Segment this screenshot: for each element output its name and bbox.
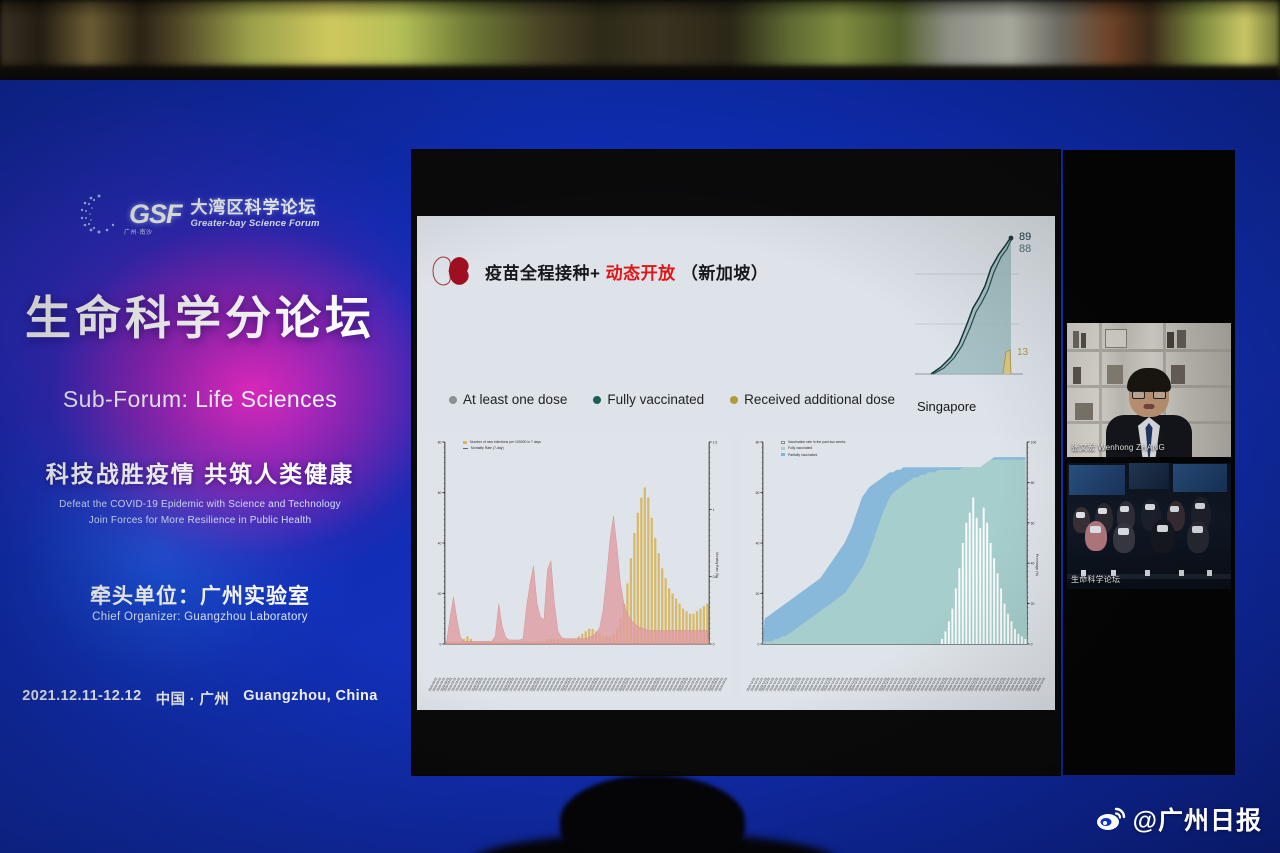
svg-text:80: 80	[1031, 481, 1035, 485]
gsf-dot-ring-icon	[78, 193, 120, 235]
chart-vaccination-coverage: Vaccination rate in the past two weeks F…	[741, 434, 1049, 696]
gsf-logo: GSF 大湾区科学论坛 Greater-bay Science Forum 广州…	[78, 193, 320, 235]
chart-left-legend: Number of new infections per 100000 in 7…	[463, 440, 541, 451]
presentation-screen: 疫苗全程接种+ 动态开放 （新加坡） At least one dose Ful…	[412, 150, 1060, 775]
banner-footer: 2021.12.11-12.12 中国 · 广州 Guangzhou, Chin…	[14, 688, 386, 709]
svg-text:80: 80	[438, 440, 442, 444]
weibo-handle: @广州日报	[1133, 801, 1262, 837]
chart-right-xticks: 2020-12-012020-12-012020-12-012020-12-01…	[741, 660, 1049, 696]
forum-location-cn: 中国 · 广州	[156, 688, 230, 709]
svg-text:0: 0	[1031, 642, 1033, 646]
svg-text:0: 0	[439, 642, 441, 646]
svg-text:20: 20	[1031, 602, 1035, 606]
svg-text:100: 100	[1031, 440, 1037, 444]
svg-text:0: 0	[713, 642, 715, 646]
chart-right-plot: 020406080020406080100	[741, 434, 1049, 696]
forum-location-en: Guangzhou, China	[243, 688, 377, 709]
svg-text:80: 80	[756, 440, 760, 444]
slide-legend: At least one dose Fully vaccinated Recei…	[449, 392, 895, 407]
svg-text:88: 88	[1019, 243, 1031, 255]
chart-right-legend-item-0: Vaccination rate in the past two weeks	[781, 440, 845, 444]
legend-dot-gold	[730, 396, 738, 404]
video-tiles-column: 张文宏 Wenhong ZHANG	[1063, 150, 1235, 775]
svg-text:20: 20	[756, 592, 760, 596]
gsf-name-en: Greater-bay Science Forum	[191, 218, 320, 229]
chart-right-legend-item-2: Partially vaccinated	[781, 453, 845, 457]
forum-date: 2021.12.11-12.12	[22, 688, 141, 709]
svg-text:60: 60	[756, 491, 760, 495]
legend-item-at-least-one-dose: At least one dose	[449, 392, 567, 407]
legend-dot-teal	[593, 396, 601, 404]
chart-left-legend-label-1: Mortality Rate (7-day)	[471, 446, 504, 450]
forum-title-en: Sub-Forum: Life Sciences	[14, 386, 386, 413]
chart-right-legend-label-1: Fully vaccinated	[788, 446, 812, 450]
singapore-mini-chart: 89 88 13 Singapore	[911, 224, 1043, 414]
svg-text:60: 60	[438, 491, 442, 495]
organizer-en: Chief Organizer: Guangzhou Laboratory	[14, 611, 386, 623]
svg-text:20: 20	[438, 592, 442, 596]
legend-item-additional-dose: Received additional dose	[730, 392, 895, 407]
legend-label-0: At least one dose	[463, 392, 567, 407]
screen-bezel-top	[412, 150, 1060, 216]
svg-text:40: 40	[438, 541, 442, 545]
legend-swatch-partially	[781, 453, 785, 456]
speaker-name-label: 张文宏 Wenhong ZHANG	[1071, 442, 1165, 453]
legend-label-1: Fully vaccinated	[607, 392, 704, 407]
slide-title: 疫苗全程接种+ 动态开放 （新加坡）	[485, 259, 768, 284]
svg-text:40: 40	[1031, 562, 1035, 566]
audience-background	[1067, 463, 1231, 589]
chart-infections-mortality: Number of new infections per 100000 in 7…	[423, 434, 731, 696]
singapore-country-label: Singapore	[917, 399, 976, 414]
forum-slogan-cn: 科技战胜疫情 共筑人类健康	[14, 455, 386, 489]
forum-slogan-en: Defeat the COVID-19 Epidemic with Scienc…	[14, 497, 386, 528]
audience-room-label: 生命科学论坛	[1071, 574, 1120, 585]
legend-label-2: Received additional dose	[744, 392, 895, 407]
forum-banner: GSF 大湾区科学论坛 Greater-bay Science Forum 广州…	[0, 150, 400, 730]
svg-text:89: 89	[1019, 231, 1031, 243]
chart-right-ylabel-right: Percentage (%)	[1035, 554, 1039, 576]
gsf-wordmark: GSF	[129, 199, 182, 230]
slide-charts-row: Number of new infections per 100000 in 7…	[423, 434, 1049, 696]
blood-drop-icon	[429, 252, 475, 290]
gsf-sub-location: 广州·南沙	[124, 227, 153, 236]
chart-left-legend-label-0: Number of new infections per 100000 in 7…	[470, 440, 541, 444]
legend-swatch-infections	[463, 441, 467, 444]
legend-dot-gray	[449, 396, 457, 404]
screenshot-stage: GSF 大湾区科学论坛 Greater-bay Science Forum 广州…	[0, 0, 1280, 853]
slide-surface: 疫苗全程接种+ 动态开放 （新加坡） At least one dose Ful…	[417, 216, 1055, 710]
gsf-names: 大湾区科学论坛 Greater-bay Science Forum	[191, 199, 320, 229]
weibo-watermark: @广州日报	[1096, 801, 1262, 837]
chart-left-ylabel-right: Mortality Rate (%)	[715, 552, 719, 578]
legend-swatch-fully	[781, 447, 785, 450]
chart-left-legend-item-0: Number of new infections per 100000 in 7…	[463, 440, 541, 444]
svg-text:0: 0	[757, 642, 759, 646]
legend-item-fully-vaccinated: Fully vaccinated	[593, 392, 704, 407]
svg-text:1.5: 1.5	[713, 440, 718, 444]
slogan-en-line-2: Join Forces for More Resilience in Publi…	[14, 513, 386, 529]
slide-title-accent: 动态开放	[606, 264, 676, 283]
slide-title-prefix: 疫苗全程接种+	[485, 264, 600, 283]
svg-text:60: 60	[1031, 521, 1035, 525]
gsf-name-cn: 大湾区科学论坛	[191, 199, 320, 217]
organizer-cn: 牵头单位：广州实验室	[14, 580, 386, 610]
video-tile-speaker[interactable]: 张文宏 Wenhong ZHANG	[1067, 323, 1231, 457]
forum-title-cn: 生命科学分论坛	[14, 295, 386, 341]
chart-left-legend-item-1: Mortality Rate (7-day)	[463, 446, 541, 450]
screen-bezel-bottom	[412, 710, 1060, 775]
video-tile-audience[interactable]: 生命科学论坛	[1067, 463, 1231, 589]
svg-text:40: 40	[756, 541, 760, 545]
chart-right-legend-item-1: Fully vaccinated	[781, 446, 845, 450]
legend-line-mortality	[463, 448, 468, 449]
weibo-icon	[1096, 807, 1126, 831]
slide-header: 疫苗全程接种+ 动态开放 （新加坡）	[429, 252, 768, 290]
chart-left-plot: 02040608000.511.5	[423, 434, 731, 696]
chart-left-xticks: 2020-03-012020-03-012020-03-012020-03-01…	[423, 660, 731, 696]
legend-swatch-recent-rate	[781, 441, 785, 444]
slogan-en-line-1: Defeat the COVID-19 Epidemic with Scienc…	[14, 497, 386, 513]
svg-text:1: 1	[713, 508, 715, 512]
chart-right-legend-label-2: Partially vaccinated	[788, 453, 817, 457]
svg-text:13: 13	[1017, 347, 1029, 358]
chart-right-legend: Vaccination rate in the past two weeks F…	[781, 440, 845, 457]
chart-right-legend-label-0: Vaccination rate in the past two weeks	[788, 440, 845, 444]
slide-title-suffix: （新加坡）	[681, 264, 769, 283]
